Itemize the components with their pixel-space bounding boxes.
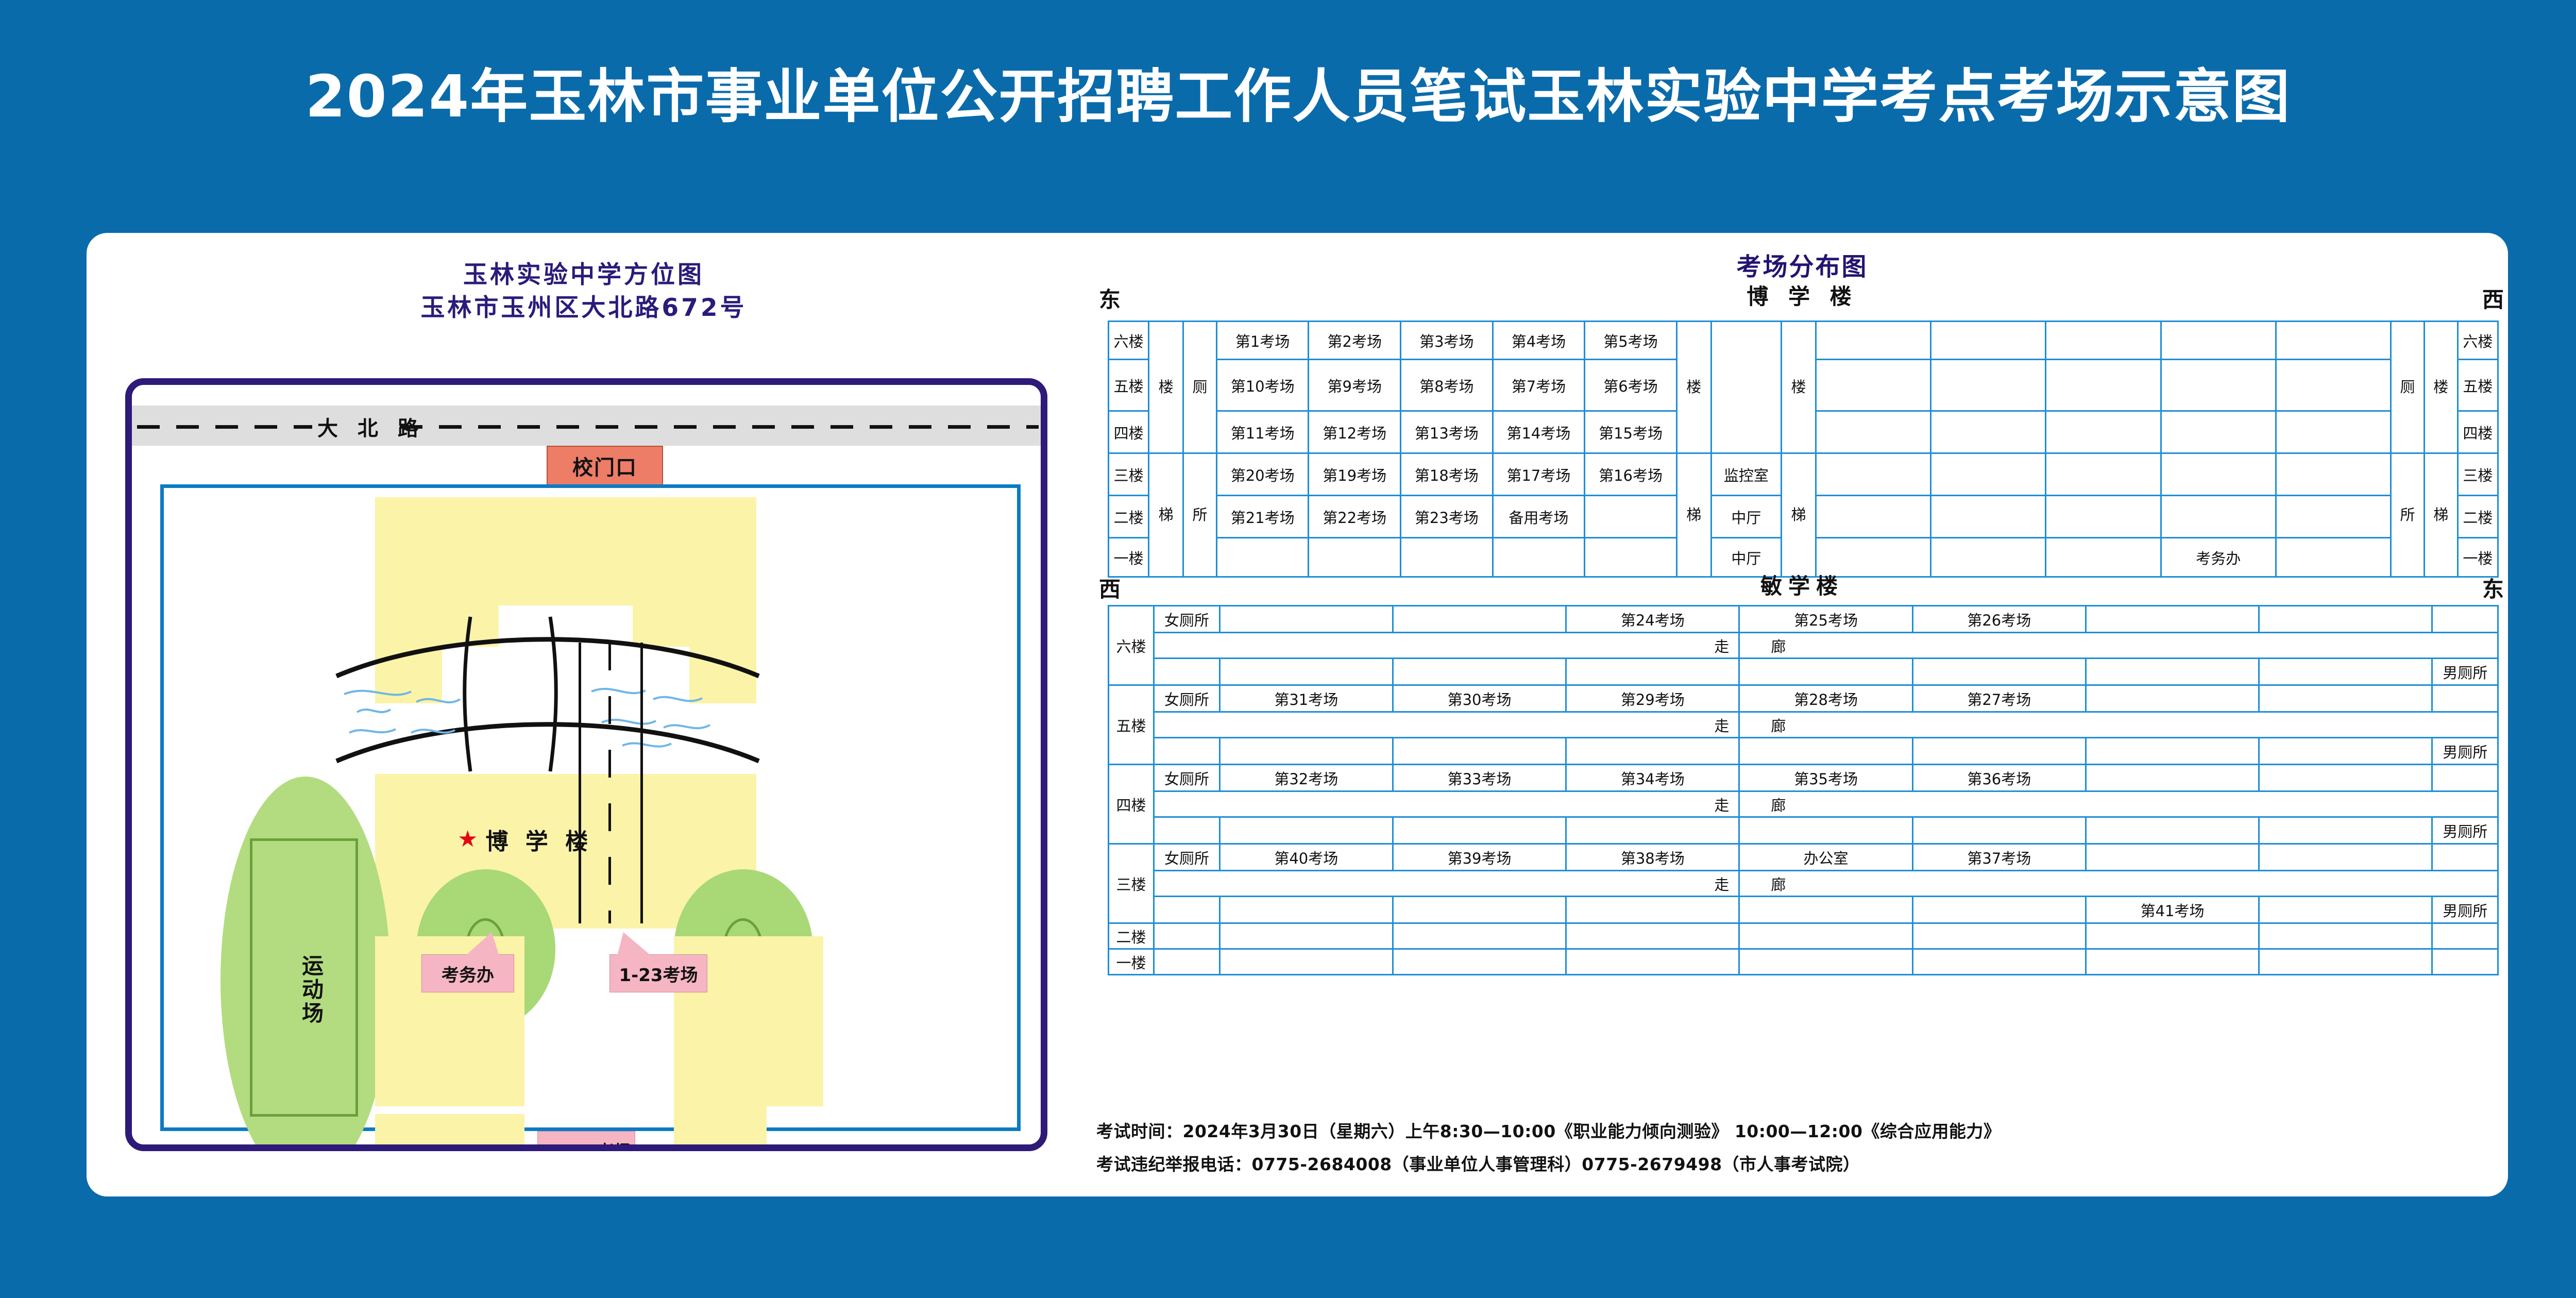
minxue-room-cell — [2086, 923, 2259, 949]
footer-report-phone: 考试违纪举报电话：0775-2684008（事业单位人事管理科）0775-267… — [1096, 1148, 2508, 1181]
minxue-room-cell: 第34考场 — [1566, 765, 1739, 791]
boxue-room-cell: 第7考场 — [1493, 360, 1585, 411]
minxue-corridor-left: 走 — [1154, 633, 1739, 659]
minxue-corridor-right: 廊 — [1739, 712, 2498, 738]
boxue-right-cell — [2276, 360, 2391, 411]
boxue-toilet-right-lower: 所 — [2391, 453, 2425, 577]
boxue-room-cell: 备用考场 — [1493, 496, 1585, 538]
table-row: 男厕所 — [1109, 738, 2498, 765]
minxue-room-cell: 第33考场 — [1393, 765, 1566, 791]
minxue-room-cell: 第31考场 — [1219, 685, 1393, 712]
minxue-room-cell — [2259, 659, 2432, 685]
minxue-room-cell — [1739, 817, 1912, 844]
minxue-room-cell — [1566, 949, 1739, 975]
minxue-room-cell — [1154, 659, 1220, 685]
campus-path-right-edge — [640, 643, 643, 923]
minxue-room-cell: 第28考场 — [1739, 685, 1912, 712]
minxue-room-cell — [2259, 685, 2432, 712]
boxue-stairs-right-lower: 梯 — [2424, 453, 2458, 577]
boxue-toilet-right-upper: 厕 — [2391, 322, 2425, 453]
boxue-right-cell — [2276, 453, 2391, 496]
minxue-room-cell — [1912, 817, 2086, 844]
minxue-women-toilet: 女厕所 — [1154, 844, 1220, 871]
minxue-room-cell — [2432, 685, 2498, 712]
minxue-room-cell — [1566, 897, 1739, 923]
callout-rooms-minxue: 24-41考场 — [537, 1131, 635, 1151]
minxue-room-cell: 第25考场 — [1739, 606, 1912, 633]
minxue-room-cell — [2259, 817, 2432, 844]
boxue-table: 六楼 楼 厕 第1考场 第2考场 第3考场 第4考场 第5考场 楼 楼 — [1108, 321, 2499, 578]
sports-field-label: 运动场 — [293, 954, 334, 1026]
boxue-right-cell — [2276, 411, 2391, 453]
boxue-stairs-left-lower: 梯 — [1149, 453, 1183, 577]
boxue-room-cell: 第4考场 — [1493, 322, 1585, 360]
table-row: 走 廊 — [1109, 871, 2498, 897]
boxue-right-cell — [1816, 411, 1930, 453]
table-row: 四楼 女厕所 第32考场 第33考场 第34考场 第35考场 第36考场 — [1109, 765, 2498, 791]
minxue-room-cell: 第35考场 — [1739, 765, 1912, 791]
boxue-right-cell — [2161, 411, 2276, 453]
campus-path-center-line — [608, 643, 611, 923]
minxue-room-cell — [1912, 897, 2086, 923]
minxue-office-cell: 办公室 — [1739, 844, 1912, 871]
boxue-floor-label: 三楼 — [1109, 453, 1149, 496]
boxue-floor-label-right: 三楼 — [2458, 453, 2498, 496]
table-row: 六楼 女厕所 第24考场 第25考场 第26考场 — [1109, 606, 2498, 633]
minxue-room-cell — [2259, 765, 2432, 791]
minxue-corridor-right: 廊 — [1739, 791, 2498, 817]
minxue-room-cell — [1566, 923, 1739, 949]
boxue-floor-label: 五楼 — [1109, 360, 1149, 411]
boxue-right-cell — [2161, 360, 2276, 411]
boxue-floor-label-right: 六楼 — [2458, 322, 2498, 360]
boxue-room-cell — [1585, 496, 1677, 538]
minxue-corridor-right: 廊 — [1739, 871, 2498, 897]
boxue-right-cell — [2046, 322, 2161, 360]
minxue-floor-label: 六楼 — [1109, 606, 1154, 685]
table-row: 走 廊 — [1109, 712, 2498, 738]
minxue-men-toilet: 男厕所 — [2432, 738, 2498, 765]
boxue-stairs-mid-right-upper: 楼 — [1781, 322, 1816, 453]
minxue-building-title: 敏学楼 — [1096, 569, 2508, 600]
boxue-right-cell — [2161, 322, 2276, 360]
boxue-stairs-left-upper: 楼 — [1149, 322, 1183, 453]
minxue-room-cell — [1393, 659, 1566, 685]
boxue-right-cell — [1931, 496, 2046, 538]
minxue-room-cell — [2432, 844, 2498, 871]
boxue-floor-label: 四楼 — [1109, 411, 1149, 453]
minxue-room-cell — [2086, 685, 2259, 712]
minxue-room-cell — [1912, 923, 2086, 949]
campus-boundary: ★ 博 学 楼 运动场 — [160, 484, 1021, 1131]
boxue-room-cell: 第18考场 — [1401, 453, 1493, 496]
boxue-room-cell: 第23考场 — [1401, 496, 1493, 538]
minxue-corridor-right: 廊 — [1739, 633, 2498, 659]
minxue-men-toilet: 男厕所 — [2432, 817, 2498, 844]
minxue-room-cell — [1393, 923, 1566, 949]
minxue-women-toilet: 女厕所 — [1154, 765, 1220, 791]
minxue-room-cell: 第32考场 — [1219, 765, 1393, 791]
table-row: 第41考场 男厕所 — [1109, 897, 2498, 923]
boxue-room-cell: 第12考场 — [1309, 411, 1401, 453]
minxue-room-cell — [2259, 738, 2432, 765]
callout-rooms-boxue: 1-23考场 — [609, 954, 707, 992]
boxue-stairs-mid-left-lower: 梯 — [1676, 453, 1711, 577]
boxue-right-cell — [1931, 360, 2046, 411]
boxue-room-cell: 第20考场 — [1216, 453, 1309, 496]
boxue-room-cell: 第2考场 — [1309, 322, 1401, 360]
footer-exam-time: 考试时间：2024年3月30日（星期六）上午8:30—10:00《职业能力倾向测… — [1096, 1115, 2508, 1148]
minxue-room-cell: 第30考场 — [1393, 685, 1566, 712]
minxue-room-cell — [1739, 923, 1912, 949]
minxue-room-cell — [1219, 923, 1393, 949]
sports-court-graphic — [334, 606, 761, 777]
minxue-room-cell — [2086, 659, 2259, 685]
minxue-room-cell — [1219, 897, 1393, 923]
building-minxue-body — [375, 1114, 524, 1151]
campus-map-frame: 大 北 路 校门口 — [125, 378, 1047, 1151]
boxue-room-cell: 第22考场 — [1309, 496, 1401, 538]
minxue-room-cell — [2086, 765, 2259, 791]
boxue-lobby-cell: 中厅 — [1711, 496, 1781, 538]
minxue-room-cell — [2259, 844, 2432, 871]
minxue-room-cell — [1219, 738, 1393, 765]
callout-rooms-boxue-tail — [617, 932, 651, 956]
exam-distribution-panel: 考场分布图 东 博 学 楼 西 六楼 楼 厕 第1考场 第2考场 — [1096, 233, 2508, 1196]
minxue-room-cell — [2432, 949, 2498, 975]
boxue-room-cell: 第5考场 — [1585, 322, 1677, 360]
table-row: 五楼 女厕所 第31考场 第30考场 第29考场 第28考场 第27考场 — [1109, 685, 2498, 712]
building-boxue-label: ★ 博 学 楼 — [457, 823, 592, 856]
star-icon: ★ — [457, 828, 482, 851]
minxue-room-cell — [1566, 817, 1739, 844]
boxue-right-cell — [2276, 322, 2391, 360]
boxue-toilet-left-lower: 所 — [1183, 453, 1217, 577]
minxue-room-cell — [2432, 765, 2498, 791]
minxue-room-cell — [2259, 923, 2432, 949]
minxue-room-cell: 第27考场 — [1912, 685, 2086, 712]
table-row: 三楼 梯 所 第20考场 第19考场 第18考场 第17考场 第16考场 梯 监… — [1109, 453, 2498, 496]
minxue-room-cell — [1393, 738, 1566, 765]
minxue-direction-east: 东 — [2482, 572, 2504, 603]
boxue-right-cell — [2046, 360, 2161, 411]
table-row: 走 廊 — [1109, 791, 2498, 817]
minxue-room-cell — [1739, 897, 1912, 923]
boxue-right-cell — [1816, 322, 1930, 360]
minxue-room-cell — [1566, 738, 1739, 765]
boxue-right-cell — [1816, 360, 1930, 411]
boxue-room-cell: 第16考场 — [1585, 453, 1677, 496]
boxue-room-cell: 第13考场 — [1401, 411, 1493, 453]
boxue-stairs-mid-left-upper: 楼 — [1676, 322, 1711, 453]
boxue-room-cell: 第14考场 — [1493, 411, 1585, 453]
table-row: 男厕所 — [1109, 817, 2498, 844]
road-dash-right — [400, 425, 1039, 429]
road-dash-left — [137, 425, 312, 429]
minxue-table: 六楼 女厕所 第24考场 第25考场 第26考场 走 廊 — [1108, 605, 2499, 975]
boxue-floor-label: 六楼 — [1109, 322, 1149, 360]
minxue-room-cell — [1912, 738, 2086, 765]
boxue-right-cell — [1931, 322, 2046, 360]
minxue-room-cell: 第26考场 — [1912, 606, 2086, 633]
minxue-room-cell — [1739, 949, 1912, 975]
minxue-room-cell — [1393, 897, 1566, 923]
minxue-room-cell — [1154, 949, 1220, 975]
minxue-floor-label: 二楼 — [1109, 923, 1154, 949]
boxue-room-cell: 第6考场 — [1585, 360, 1677, 411]
boxue-right-cell — [2276, 496, 2391, 538]
minxue-room-cell: 第38考场 — [1566, 844, 1739, 871]
minxue-room-cell — [1393, 949, 1566, 975]
minxue-room-cell — [1739, 659, 1912, 685]
minxue-floor-label: 五楼 — [1109, 685, 1154, 765]
minxue-floor-label: 一楼 — [1109, 949, 1154, 975]
minxue-room-cell — [1154, 738, 1220, 765]
boxue-room-cell: 第11考场 — [1216, 411, 1309, 453]
minxue-room-cell — [1154, 923, 1220, 949]
minxue-room-cell — [1219, 949, 1393, 975]
minxue-room-cell — [1912, 949, 2086, 975]
minxue-room-cell — [2086, 844, 2259, 871]
minxue-room-cell: 第29考场 — [1566, 685, 1739, 712]
minxue-corridor-left: 走 — [1154, 791, 1739, 817]
table-row: 三楼 女厕所 第40考场 第39考场 第38考场 办公室 第37考场 — [1109, 844, 2498, 871]
minxue-room-cell — [1154, 897, 1220, 923]
minxue-men-toilet: 男厕所 — [2432, 897, 2498, 923]
boxue-room-cell: 第1考场 — [1216, 322, 1309, 360]
boxue-right-cell — [1931, 453, 2046, 496]
minxue-room-cell — [2259, 897, 2432, 923]
minxue-room-cell: 第39考场 — [1393, 844, 1566, 871]
boxue-right-cell — [2161, 453, 2276, 496]
minxue-room-cell — [2086, 949, 2259, 975]
callout-exam-office: 考务办 — [421, 954, 514, 992]
minxue-room-cell: 第24考场 — [1566, 606, 1739, 633]
campus-path-left-edge — [579, 643, 581, 923]
boxue-room-cell: 第17考场 — [1493, 453, 1585, 496]
page-title: 2024年玉林市事业单位公开招聘工作人员笔试玉林实验中学考点考场示意图 — [0, 67, 2576, 128]
table-row: 六楼 楼 厕 第1考场 第2考场 第3考场 第4考场 第5考场 楼 楼 — [1109, 322, 2498, 360]
content-card: 玉林实验中学方位图 玉林市玉州区大北路672号 大 北 路 校门口 — [87, 233, 2508, 1196]
table-row: 二楼 — [1109, 923, 2498, 949]
sports-field: 运动场 — [221, 777, 391, 1151]
footer-notes: 考试时间：2024年3月30日（星期六）上午8:30—10:00《职业能力倾向测… — [1096, 1115, 2508, 1182]
minxue-room-cell — [1566, 659, 1739, 685]
boxue-monitor-room: 监控室 — [1711, 453, 1781, 496]
road-label: 大 北 路 — [317, 412, 400, 442]
minxue-floor-label: 四楼 — [1109, 765, 1154, 844]
minxue-room-cell — [1393, 817, 1566, 844]
boxue-right-cell — [1931, 411, 2046, 453]
boxue-room-cell: 第9考场 — [1309, 360, 1401, 411]
minxue-women-toilet: 女厕所 — [1154, 685, 1220, 712]
minxue-room-cell — [2086, 606, 2259, 633]
boxue-stairs-mid-right-lower: 梯 — [1781, 453, 1816, 577]
boxue-right-cell — [2046, 453, 2161, 496]
minxue-room-cell — [1393, 606, 1566, 633]
boxue-building-title: 博 学 楼 — [1096, 279, 2508, 311]
table-row: 走 廊 — [1109, 633, 2498, 659]
minxue-men-toilet: 男厕所 — [2432, 659, 2498, 685]
minxue-room-cell — [1154, 817, 1220, 844]
table-row: 一楼 — [1109, 949, 2498, 975]
minxue-room-cell: 第36考场 — [1912, 765, 2086, 791]
boxue-right-cell — [1816, 453, 1930, 496]
boxue-floor-label-right: 二楼 — [2458, 496, 2498, 538]
boxue-room-cell: 第10考场 — [1216, 360, 1309, 411]
boxue-right-cell — [1816, 496, 1930, 538]
boxue-room-cell: 第19考场 — [1309, 453, 1401, 496]
chart-title: 考场分布图 — [1096, 246, 2508, 282]
boxue-floor-label-right: 五楼 — [2458, 360, 2498, 411]
minxue-room-cell — [1219, 606, 1393, 633]
boxue-right-cell — [2161, 496, 2276, 538]
minxue-room-cell — [1912, 659, 2086, 685]
minxue-room-cell: 第40考场 — [1219, 844, 1393, 871]
boxue-mid-cell — [1711, 322, 1781, 453]
minxue-women-toilet: 女厕所 — [1154, 606, 1220, 633]
boxue-right-cell — [2046, 411, 2161, 453]
minxue-room-cell: 第41考场 — [2086, 897, 2259, 923]
minxue-corridor-left: 走 — [1154, 871, 1739, 897]
boxue-room-cell: 第3考场 — [1401, 322, 1493, 360]
minxue-room-cell — [2259, 949, 2432, 975]
minxue-corridor-left: 走 — [1154, 712, 1739, 738]
minxue-room-cell — [2086, 817, 2259, 844]
map-heading-address: 玉林市玉州区大北路672号 — [87, 288, 1081, 323]
boxue-right-cell — [2046, 496, 2161, 538]
map-heading-school: 玉林实验中学方位图 — [87, 255, 1081, 290]
building-lower-right-ext — [674, 1044, 767, 1151]
minxue-room-cell — [2086, 738, 2259, 765]
boxue-room-cell: 第21考场 — [1216, 496, 1309, 538]
boxue-floor-label-right: 四楼 — [2458, 411, 2498, 453]
campus-map-panel: 玉林实验中学方位图 玉林市玉州区大北路672号 大 北 路 校门口 — [87, 233, 1081, 1196]
minxue-floor-label: 三楼 — [1109, 844, 1154, 923]
school-gate: 校门口 — [547, 446, 663, 485]
boxue-floor-label: 二楼 — [1109, 496, 1149, 538]
boxue-toilet-left-upper: 厕 — [1183, 322, 1217, 453]
minxue-room-cell — [1739, 738, 1912, 765]
boxue-room-cell: 第8考场 — [1401, 360, 1493, 411]
minxue-room-cell: 第37考场 — [1912, 844, 2086, 871]
minxue-room-cell — [2259, 606, 2432, 633]
minxue-room-cell — [1219, 659, 1393, 685]
minxue-room-cell — [2432, 923, 2498, 949]
minxue-room-cell — [1219, 817, 1393, 844]
boxue-direction-west: 西 — [2482, 282, 2504, 314]
table-row: 男厕所 — [1109, 659, 2498, 685]
building-boxue-text: 博 学 楼 — [485, 823, 592, 856]
minxue-room-cell — [2432, 606, 2498, 633]
boxue-room-cell: 第15考场 — [1585, 411, 1677, 453]
boxue-stairs-right-upper: 楼 — [2424, 322, 2458, 453]
